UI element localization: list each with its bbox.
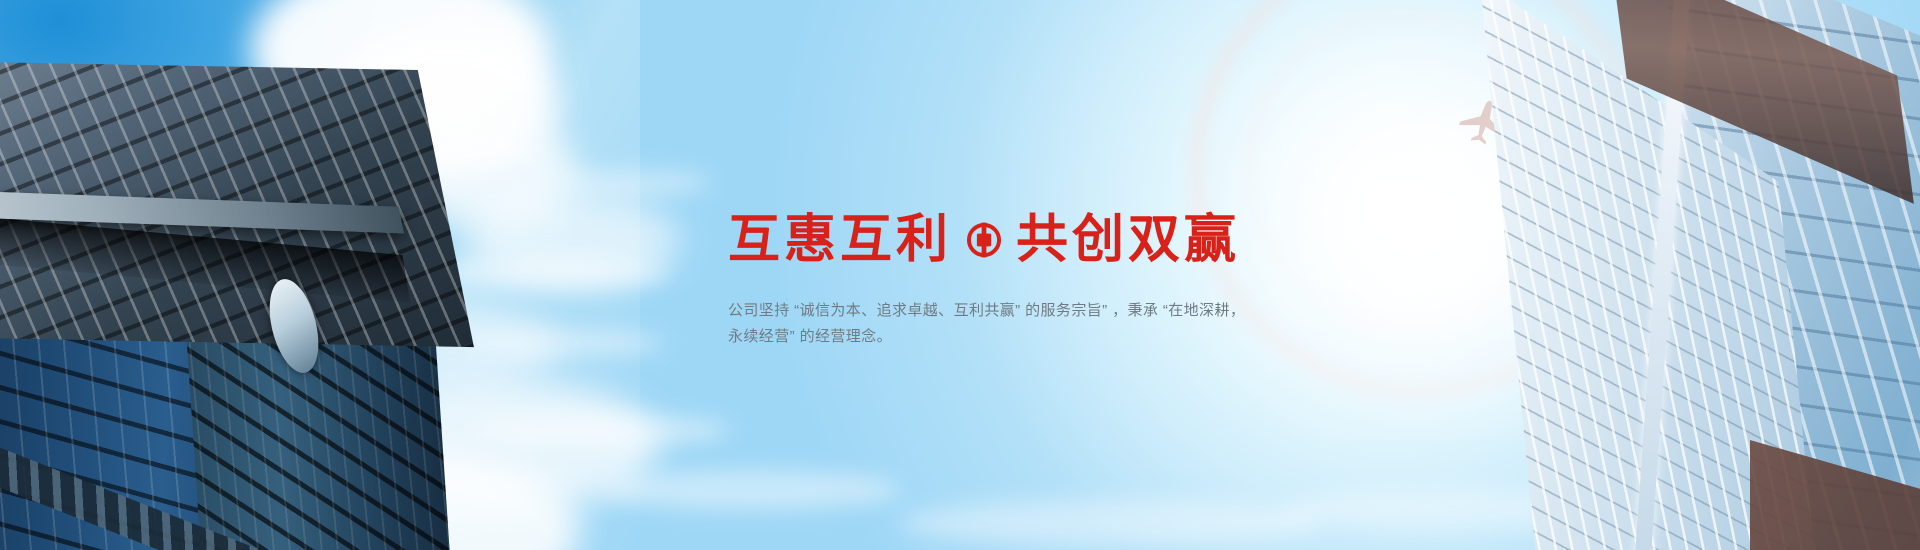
circle-bar-emblem-icon	[965, 221, 1003, 259]
subtitle-line-2: 永续经营” 的经营理念。	[728, 324, 1288, 350]
right-building	[1440, 0, 1920, 550]
banner-headline: 互惠互利 共创双赢	[728, 213, 1240, 268]
banner-subtitle: 公司坚持 “诚信为本、追求卓越、互利共赢” 的服务宗旨” ，秉承 “在地深耕， …	[728, 298, 1288, 350]
headline-left-text: 互惠互利	[728, 213, 952, 268]
subtitle-line-1: 公司坚持 “诚信为本、追求卓越、互利共赢” 的服务宗旨” ，秉承 “在地深耕，	[728, 298, 1288, 324]
hero-banner: 互惠互利 共创双赢 公司坚持 “诚信为本、追求卓越、互利共赢” 的服务宗旨” ，…	[0, 0, 1920, 550]
headline-right-text: 共创双赢	[1016, 213, 1240, 268]
left-building	[0, 60, 480, 550]
